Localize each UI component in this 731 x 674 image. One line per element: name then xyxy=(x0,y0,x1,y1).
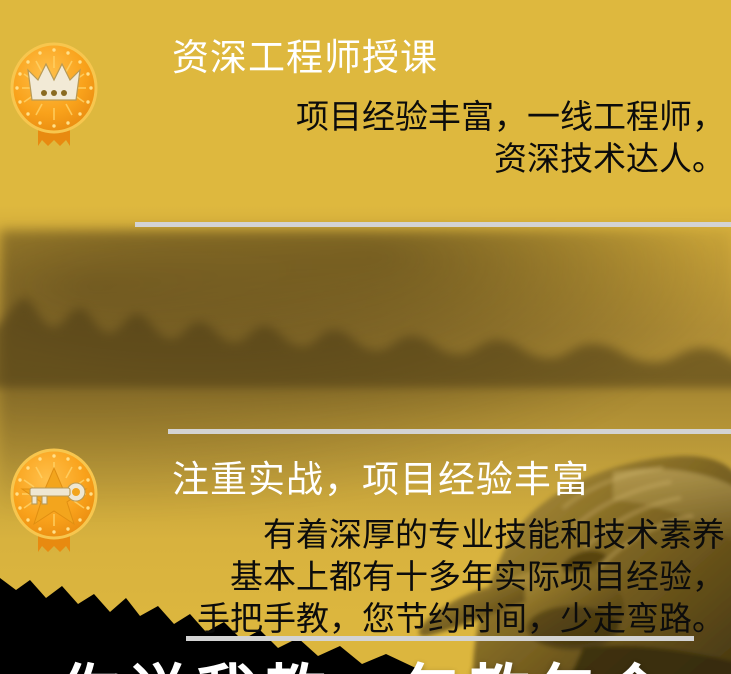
body-line: 项目经验丰富，一线工程师， xyxy=(110,96,725,138)
crown-rosette-icon xyxy=(6,42,102,154)
section-body: 项目经验丰富，一线工程师， 资深技术达人。 xyxy=(110,96,725,180)
promo-poster: 你说我教，包教包会 xyxy=(0,0,731,674)
section-practice-focused: 注重实战，项目经验丰富 有着深厚的专业技能和技术素养 基本上都有十多年实际项目经… xyxy=(0,222,731,422)
body-line: 资深技术达人。 xyxy=(110,138,725,180)
section-heading: 资深工程师授课 xyxy=(172,38,438,78)
section-willing-to-share: 乐于分享，认真负责 针对客户实际需求，案例教学， 边讲边练，互动式授课， xyxy=(0,434,731,634)
section-senior-engineer-teaching: 资深工程师授课 项目经验丰富，一线工程师， 资深技术达人。 xyxy=(0,14,731,214)
